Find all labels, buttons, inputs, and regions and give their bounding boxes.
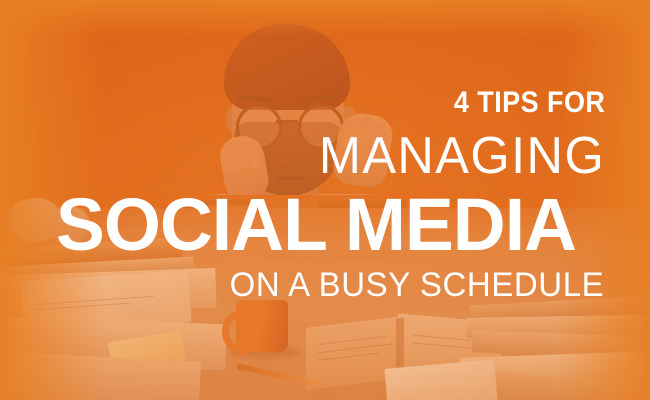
headline-line-4: ON A BUSY SCHEDULE [229,268,604,302]
headline-eyebrow: 4 TIPS FOR [453,88,605,118]
social-media-tips-banner: 4 TIPS FOR MANAGING SOCIAL MEDIA ON A BU… [0,0,650,400]
headline-line-3: SOCIAL MEDIA [56,188,576,262]
headline-line-2: MANAGING [319,130,605,182]
headline-block: 4 TIPS FOR MANAGING SOCIAL MEDIA ON A BU… [0,0,650,400]
